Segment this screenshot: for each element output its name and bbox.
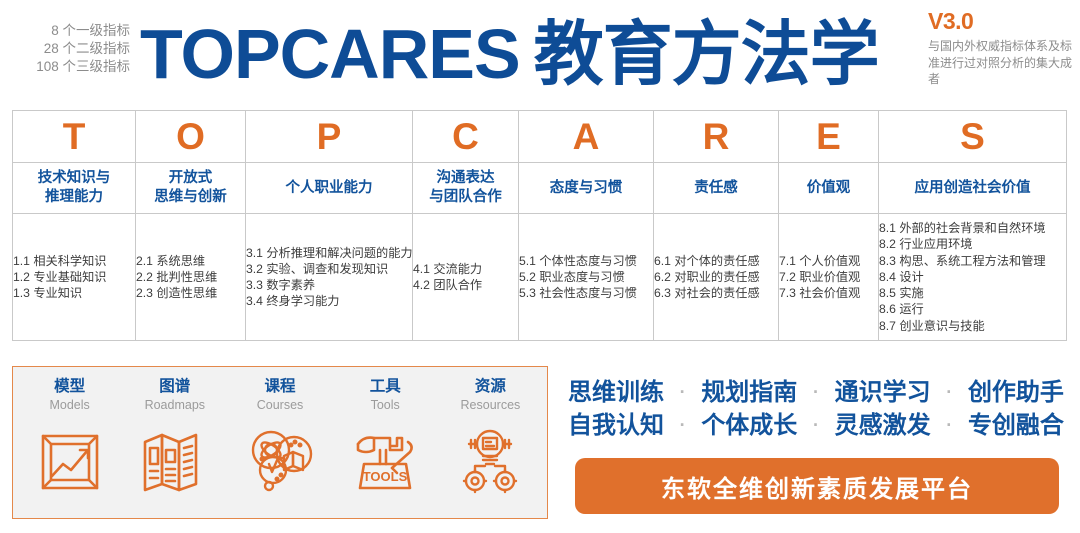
keywords-row-1: 思维训练 · 规划指南 · 通识学习 · 创作助手: [566, 376, 1066, 409]
items-cell-1: 2.1 系统思维2.2 批判性思维2.3 创造性思维: [136, 214, 246, 341]
letter-cell-c: C: [413, 111, 519, 163]
resource-item-models[interactable]: 模型 Models: [17, 377, 122, 512]
letter-cell-o: O: [136, 111, 246, 163]
text-line: 态度与习惯: [519, 179, 653, 198]
resource-label-cn-1: 图谱: [159, 377, 190, 396]
text-line: 5.3 社会性态度与习惯: [519, 285, 653, 301]
keyword-separator: ·: [680, 376, 686, 409]
category-cell-1: 开放式思维与创新: [136, 163, 246, 214]
resource-label-en-2: Courses: [257, 397, 304, 413]
text-line: 7.2 职业价值观: [779, 269, 878, 285]
letter-cell-r: R: [654, 111, 779, 163]
text-line: 5.1 个体性态度与习惯: [519, 253, 653, 269]
resources-panel: 模型 Models 图谱 Roadmaps: [12, 366, 548, 519]
keyword-r2-0: 自我认知: [568, 409, 664, 442]
text-line: 2.1 系统思维: [136, 253, 245, 269]
title-english: TOPCARES: [140, 19, 520, 89]
keyword-r1-2: 通识学习: [835, 376, 931, 409]
text-line: 8.7 创业意识与技能: [879, 318, 1066, 334]
resource-item-tools[interactable]: 工具 Tools TOOLS: [333, 377, 438, 512]
resource-label-cn-3: 工具: [370, 377, 401, 396]
category-cell-5: 责任感: [654, 163, 779, 214]
resource-label-en-3: Tools: [371, 397, 400, 413]
text-line: 3.1 分析推理和解决问题的能力: [246, 245, 412, 261]
items-cell-6: 7.1 个人价值观7.2 职业价值观7.3 社会价值观: [779, 214, 879, 341]
text-line: 思维与创新: [136, 188, 245, 207]
lightbulb-gears-icon: [454, 425, 526, 497]
keyword-separator: ·: [946, 376, 952, 409]
resource-label-cn-0: 模型: [54, 377, 85, 396]
toolbox-text: TOOLS: [363, 469, 408, 484]
model-cube-chart-icon: [34, 425, 106, 497]
atom-book-icon: [244, 425, 316, 497]
text-line: 5.2 职业态度与习惯: [519, 269, 653, 285]
text-line: 沟通表达: [413, 169, 518, 188]
text-line: 8.1 外部的社会背景和自然环境: [879, 220, 1066, 236]
letter-cell-p: P: [246, 111, 413, 163]
text-line: 6.1 对个体的责任感: [654, 253, 778, 269]
category-cell-7: 应用创造社会价值: [879, 163, 1067, 214]
text-line: 6.3 对社会的责任感: [654, 285, 778, 301]
text-line: 8.3 构思、系统工程方法和管理: [879, 253, 1066, 269]
indicator-stat-line-1: 8 个一级指标: [12, 22, 130, 40]
folded-map-icon: [139, 425, 211, 497]
version-block: V3.0 与国内外权威指标体系及标准进行过对照分析的集大成者: [928, 8, 1074, 88]
text-line: 4.2 团队合作: [413, 277, 518, 293]
category-cell-0: 技术知识与推理能力: [13, 163, 136, 214]
letter-cell-a: A: [519, 111, 654, 163]
resource-label-en-1: Roadmaps: [145, 397, 205, 413]
resource-item-roadmaps[interactable]: 图谱 Roadmaps: [122, 377, 227, 512]
items-cell-2: 3.1 分析推理和解决问题的能力3.2 实验、调查和发现知识3.3 数字素养3.…: [246, 214, 413, 341]
resource-item-courses[interactable]: 课程 Courses: [227, 377, 332, 512]
keyword-r1-0: 思维训练: [568, 376, 664, 409]
title-chinese: 教育方法学: [534, 19, 879, 89]
version-label: V3.0: [928, 8, 1074, 34]
keyword-r1-1: 规划指南: [701, 376, 797, 409]
text-line: 2.2 批判性思维: [136, 269, 245, 285]
indicator-stat-line-2: 28 个二级指标: [12, 40, 130, 58]
text-line: 个人职业能力: [246, 179, 412, 198]
items-cell-5: 6.1 对个体的责任感6.2 对职业的责任感6.3 对社会的责任感: [654, 214, 779, 341]
keyword-separator: ·: [813, 376, 819, 409]
resource-item-resources[interactable]: 资源 Resources: [438, 377, 543, 512]
keyword-separator: ·: [680, 409, 686, 442]
text-line: 7.3 社会价值观: [779, 285, 878, 301]
category-cell-4: 态度与习惯: [519, 163, 654, 214]
table-row-letters: T O P C A R E S: [13, 111, 1067, 163]
keyword-separator: ·: [946, 409, 952, 442]
keyword-r1-3: 创作助手: [968, 376, 1064, 409]
keyword-separator: ·: [813, 409, 819, 442]
items-cell-4: 5.1 个体性态度与习惯5.2 职业态度与习惯5.3 社会性态度与习惯: [519, 214, 654, 341]
text-line: 与团队合作: [413, 188, 518, 207]
text-line: 1.1 相关科学知识: [13, 253, 135, 269]
text-line: 4.1 交流能力: [413, 261, 518, 277]
items-cell-0: 1.1 相关科学知识1.2 专业基础知识1.3 专业知识: [13, 214, 136, 341]
platform-button[interactable]: 东软全维创新素质发展平台: [575, 458, 1059, 514]
category-cell-6: 价值观: [779, 163, 879, 214]
indicator-stats: 8 个一级指标 28 个二级指标 108 个三级指标: [12, 22, 130, 76]
table-row-items: 1.1 相关科学知识1.2 专业基础知识1.3 专业知识 2.1 系统思维2.2…: [13, 214, 1067, 341]
keywords-block: 思维训练 · 规划指南 · 通识学习 · 创作助手 自我认知 · 个体成长 · …: [566, 376, 1066, 442]
resource-label-cn-2: 课程: [265, 377, 296, 396]
table-row-categories: 技术知识与推理能力 开放式思维与创新 个人职业能力 沟通表达与团队合作 态度与习…: [13, 163, 1067, 214]
resource-label-en-4: Resources: [461, 397, 521, 413]
toolbox-icon: TOOLS: [349, 425, 421, 497]
keyword-r2-1: 个体成长: [701, 409, 797, 442]
text-line: 8.5 实施: [879, 285, 1066, 301]
letter-cell-s: S: [879, 111, 1067, 163]
text-line: 价值观: [779, 179, 878, 198]
keyword-r2-3: 专创融合: [968, 409, 1064, 442]
text-line: 1.2 专业基础知识: [13, 269, 135, 285]
text-line: 技术知识与: [13, 169, 135, 188]
letter-cell-t: T: [13, 111, 136, 163]
header: 8 个一级指标 28 个二级指标 108 个三级指标 TOPCARES 教育方法…: [0, 0, 1080, 108]
keywords-row-2: 自我认知 · 个体成长 · 灵感激发 · 专创融合: [566, 409, 1066, 442]
letter-cell-e: E: [779, 111, 879, 163]
text-line: 应用创造社会价值: [879, 179, 1066, 198]
version-description: 与国内外权威指标体系及标准进行过对照分析的集大成者: [928, 38, 1074, 88]
category-cell-3: 沟通表达与团队合作: [413, 163, 519, 214]
page-title: TOPCARES 教育方法学: [140, 8, 879, 100]
items-cell-3: 4.1 交流能力4.2 团队合作: [413, 214, 519, 341]
text-line: 8.2 行业应用环境: [879, 236, 1066, 252]
text-line: 7.1 个人价值观: [779, 253, 878, 269]
category-cell-2: 个人职业能力: [246, 163, 413, 214]
text-line: 开放式: [136, 169, 245, 188]
infographic-page: 8 个一级指标 28 个二级指标 108 个三级指标 TOPCARES 教育方法…: [0, 0, 1080, 533]
text-line: 3.4 终身学习能力: [246, 293, 412, 309]
resources-row: 模型 Models 图谱 Roadmaps: [13, 367, 547, 518]
keyword-r2-2: 灵感激发: [835, 409, 931, 442]
text-line: 3.2 实验、调查和发现知识: [246, 261, 412, 277]
topcares-table: T O P C A R E S 技术知识与推理能力 开放式思维与创新 个人职业能…: [12, 110, 1067, 341]
text-line: 8.4 设计: [879, 269, 1066, 285]
text-line: 2.3 创造性思维: [136, 285, 245, 301]
resource-label-en-0: Models: [49, 397, 89, 413]
text-line: 1.3 专业知识: [13, 285, 135, 301]
text-line: 8.6 运行: [879, 301, 1066, 317]
text-line: 6.2 对职业的责任感: [654, 269, 778, 285]
indicator-stat-line-3: 108 个三级指标: [12, 58, 130, 76]
items-cell-7: 8.1 外部的社会背景和自然环境8.2 行业应用环境8.3 构思、系统工程方法和…: [879, 214, 1067, 341]
text-line: 推理能力: [13, 188, 135, 207]
text-line: 3.3 数字素养: [246, 277, 412, 293]
text-line: 责任感: [654, 179, 778, 198]
resource-label-cn-4: 资源: [475, 377, 506, 396]
